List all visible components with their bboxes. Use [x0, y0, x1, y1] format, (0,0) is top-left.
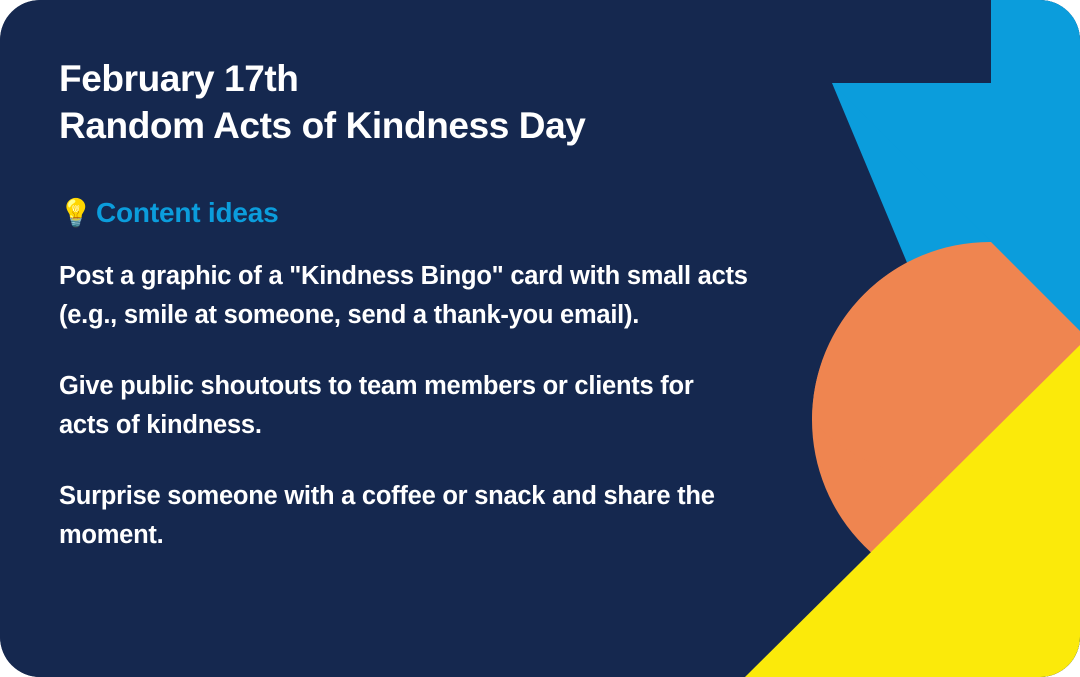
- content-ideas-label: Content ideas: [96, 198, 279, 229]
- title-main-line: Random Acts of Kindness Day: [59, 103, 760, 150]
- orange-circle-lower: [812, 261, 1072, 478]
- content-ideas-heading: 💡 Content ideas: [59, 198, 760, 229]
- orange-circle-shape: [812, 242, 1080, 598]
- yellow-corner-wedge-top: [745, 345, 1080, 677]
- content-ideas-list: Post a graphic of a "Kindness Bingo" car…: [59, 257, 760, 555]
- list-item: Surprise someone with a coffee or snack …: [59, 477, 749, 555]
- lightbulb-icon: 💡: [59, 200, 87, 227]
- kindness-day-card: February 17th Random Acts of Kindness Da…: [0, 0, 1080, 677]
- page-title: February 17th Random Acts of Kindness Da…: [59, 56, 760, 150]
- yellow-corner-wedge: [748, 345, 1080, 677]
- card-content: February 17th Random Acts of Kindness Da…: [0, 0, 760, 555]
- blue-arrow-shape-top: [832, 0, 1080, 330]
- orange-circle-joint: [910, 165, 1070, 322]
- blue-arrow-tail: [832, 83, 1080, 677]
- list-item: Post a graphic of a "Kindness Bingo" car…: [59, 257, 749, 335]
- list-item: Give public shoutouts to team members or…: [59, 367, 749, 445]
- title-date-line: February 17th: [59, 56, 760, 103]
- blue-arrow-shape: [832, 0, 1080, 400]
- navy-concave-cut: [1010, 330, 1080, 677]
